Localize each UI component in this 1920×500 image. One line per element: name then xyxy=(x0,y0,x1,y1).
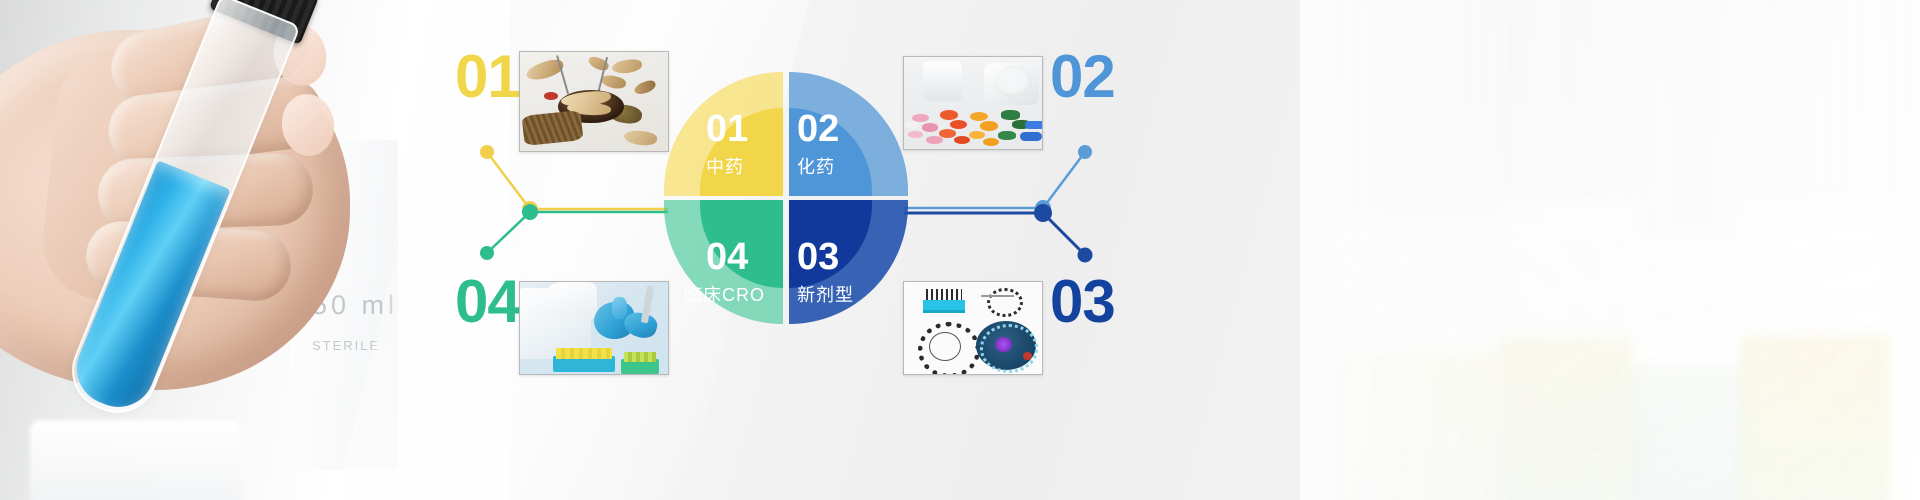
banner-stage: 50 ml STERILE xyxy=(0,0,1920,500)
segment-number: 04 xyxy=(706,238,765,276)
connector-dot-02-outer xyxy=(1078,145,1092,159)
segment-label-new-dosage: 03 新剂型 xyxy=(797,238,854,307)
background-lab-glassware xyxy=(1300,0,1920,500)
four-segment-donut: 01 中药 02 化药 04 临床CRO 03 新剂型 xyxy=(664,72,908,324)
segment-number: 03 xyxy=(797,238,854,276)
outer-number-03: 03 xyxy=(1050,272,1115,332)
herbal-medicine-photo[interactable] xyxy=(519,51,669,152)
segment-number: 01 xyxy=(706,110,748,148)
segment-text: 中药 xyxy=(706,153,748,179)
segment-label-chemical: 02 化药 xyxy=(797,110,839,179)
outer-number-02: 02 xyxy=(1050,47,1115,107)
connector-dot-04-inner xyxy=(522,204,538,220)
pills-photo[interactable] xyxy=(903,56,1043,150)
segment-text: 临床CRO xyxy=(684,281,765,307)
outer-number-04: 04 xyxy=(455,272,520,332)
liposome-diagram[interactable] xyxy=(903,281,1043,375)
hand-holding-test-tube-photo: 50 ml STERILE xyxy=(0,0,510,500)
lab-pipetting-photo[interactable] xyxy=(519,281,669,375)
segment-label-clinical-cro: 04 临床CRO xyxy=(684,238,765,307)
outer-number-01: 01 xyxy=(455,47,520,107)
connector-dot-01-inner xyxy=(522,201,538,217)
segment-text: 化药 xyxy=(797,153,839,179)
segment-text: 新剂型 xyxy=(797,281,854,307)
connector-dot-03-outer xyxy=(1078,248,1093,263)
segment-label-tcm: 01 中药 xyxy=(706,110,748,179)
connector-dot-02-inner xyxy=(1035,200,1051,216)
connector-dot-03-inner xyxy=(1034,204,1052,222)
segment-number: 02 xyxy=(797,110,839,148)
